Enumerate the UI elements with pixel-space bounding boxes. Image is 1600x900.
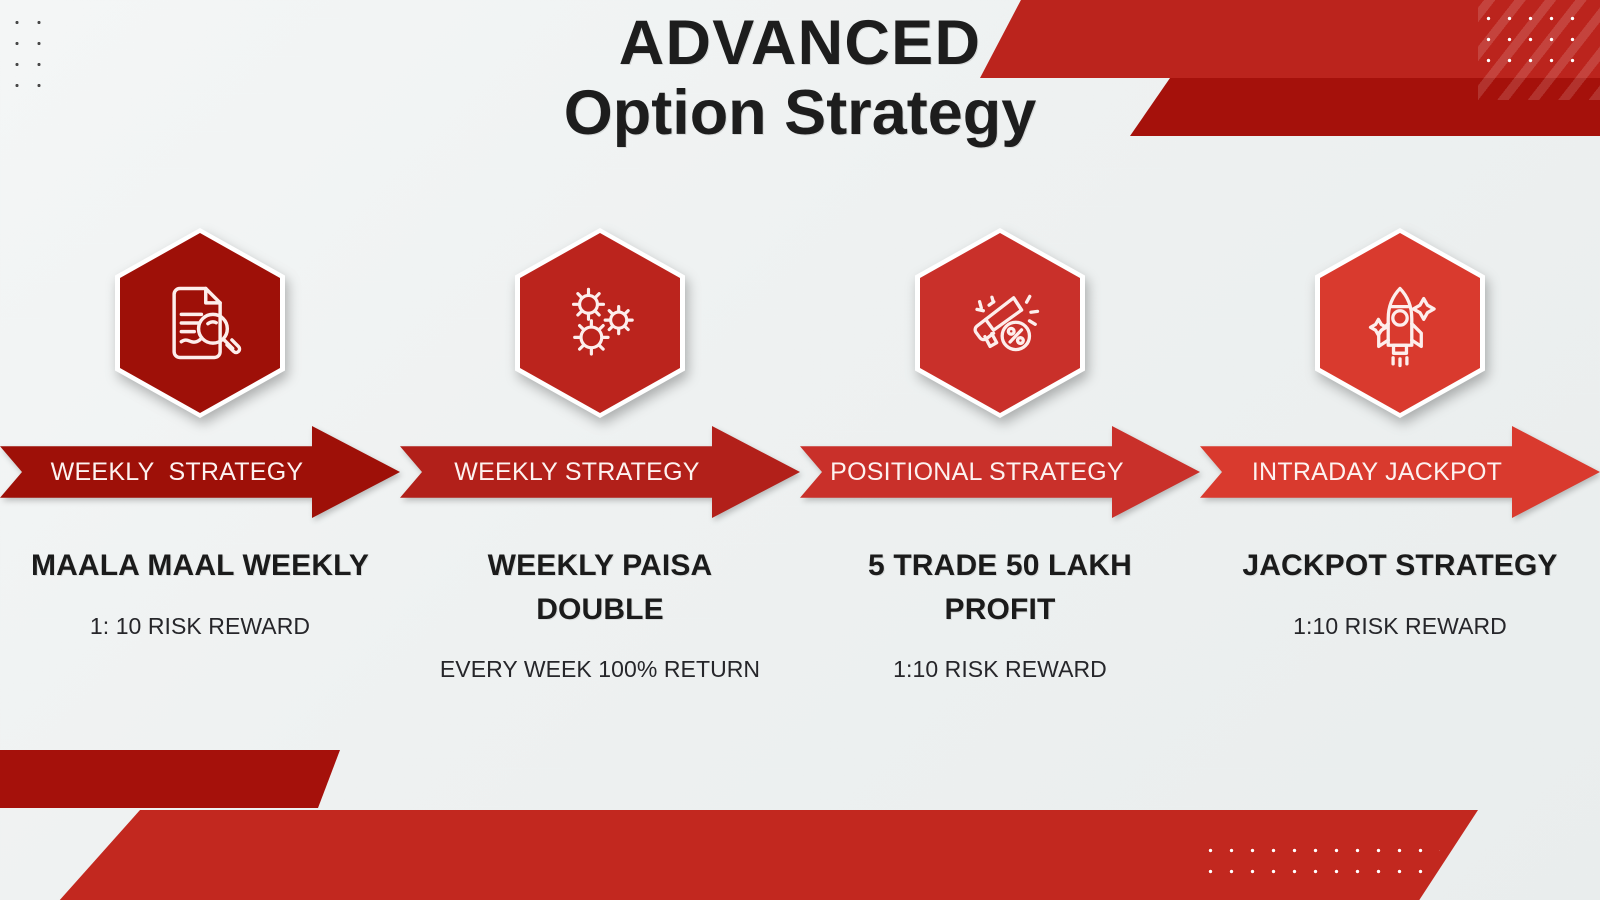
strategy-card-2: WEEKLY PAISA DOUBLE EVERY WEEK 100% RETU…: [400, 544, 800, 687]
banner-label-2: WEEKLY STRATEGY: [454, 458, 699, 487]
gears-icon: [554, 277, 646, 369]
rocket-icon: [1354, 277, 1446, 369]
strategy-banner-4[interactable]: INTRADAY JACKPOT: [1200, 426, 1600, 518]
strategy-column-1[interactable]: WEEKLY STRATEGY MAALA MAAL WEEKLY 1: 10 …: [0, 228, 400, 788]
card-subtitle-4: 1:10 RISK REWARD: [1200, 608, 1600, 644]
strategy-card-1: MAALA MAAL WEEKLY 1: 10 RISK REWARD: [0, 544, 400, 644]
hexagon-badge-1: [0, 228, 400, 418]
megaphone-percent-icon: [954, 277, 1046, 369]
card-title-3: 5 TRADE 50 LAKH PROFIT: [800, 544, 1200, 631]
page-title-line2: Option Strategy: [0, 76, 1600, 150]
card-title-2: WEEKLY PAISA DOUBLE: [400, 544, 800, 631]
strategy-card-3: 5 TRADE 50 LAKH PROFIT 1:10 RISK REWARD: [800, 544, 1200, 687]
hexagon-badge-3: [800, 228, 1200, 418]
banner-label-1: WEEKLY STRATEGY: [51, 458, 304, 487]
hexagon-badge-2: [400, 228, 800, 418]
strategy-banner-1[interactable]: WEEKLY STRATEGY: [0, 426, 400, 518]
card-subtitle-2: EVERY WEEK 100% RETURN: [400, 651, 800, 687]
banner-label-4: INTRADAY JACKPOT: [1252, 458, 1502, 487]
strategy-banner-3[interactable]: POSITIONAL STRATEGY: [800, 426, 1200, 518]
bottom-right-dot-grid: [1200, 840, 1440, 888]
page-header: ADVANCED Option Strategy: [0, 10, 1600, 150]
strategy-column-3[interactable]: POSITIONAL STRATEGY 5 TRADE 50 LAKH PROF…: [800, 228, 1200, 788]
hexagon-badge-4: [1200, 228, 1600, 418]
strategy-banner-2[interactable]: WEEKLY STRATEGY: [400, 426, 800, 518]
strategy-columns: WEEKLY STRATEGY MAALA MAAL WEEKLY 1: 10 …: [0, 228, 1600, 788]
card-title-1: MAALA MAAL WEEKLY: [0, 544, 400, 588]
strategy-card-4: JACKPOT STRATEGY 1:10 RISK REWARD: [1200, 544, 1600, 644]
strategy-column-4[interactable]: INTRADAY JACKPOT JACKPOT STRATEGY 1:10 R…: [1200, 228, 1600, 788]
card-subtitle-3: 1:10 RISK REWARD: [800, 651, 1200, 687]
page-title-line1: ADVANCED: [0, 10, 1600, 76]
strategy-column-2[interactable]: WEEKLY STRATEGY WEEKLY PAISA DOUBLE EVER…: [400, 228, 800, 788]
document-search-icon: [154, 277, 246, 369]
banner-label-3: POSITIONAL STRATEGY: [830, 458, 1124, 487]
card-title-4: JACKPOT STRATEGY: [1200, 544, 1600, 588]
card-subtitle-1: 1: 10 RISK REWARD: [0, 608, 400, 644]
